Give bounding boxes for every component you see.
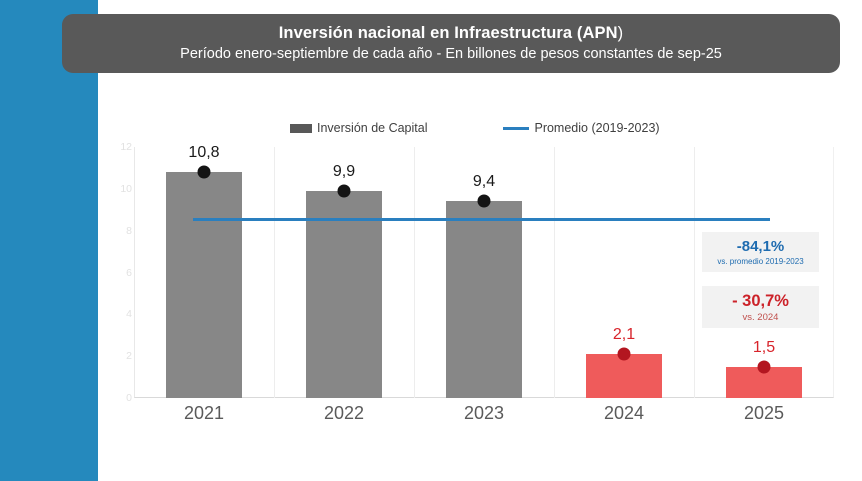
y-axis-tick: 12 (120, 141, 132, 153)
bar-marker-2022 (338, 184, 351, 197)
page-title-text: Inversión nacional en Infraestructura (A… (279, 24, 618, 42)
bar-marker-2025 (758, 360, 771, 373)
y-axis-tick: 10 (120, 183, 132, 195)
chart-legend: Inversión de Capital Promedio (2019-2023… (290, 117, 680, 139)
x-axis-tick-2022: 2022 (324, 403, 364, 424)
bar-slot: 9,9 (274, 147, 414, 398)
y-axis-tick: 0 (126, 392, 132, 404)
bar-marker-2023 (478, 195, 491, 208)
x-axis-tick-2023: 2023 (464, 403, 504, 424)
legend-label-average: Promedio (2019-2023) (534, 121, 659, 135)
callout-vs-average-sub: vs. promedio 2019-2023 (717, 257, 803, 266)
x-axis-tick-2024: 2024 (604, 403, 644, 424)
chart-page: Inversión nacional en Infraestructura (A… (0, 0, 862, 481)
bar-slot: 10,8 (134, 147, 274, 398)
legend-bar-swatch-icon (290, 124, 312, 133)
bar-2023[interactable] (446, 201, 522, 398)
plot-area: 10,89,99,42,11,5 (134, 147, 834, 398)
legend-label-series: Inversión de Capital (317, 121, 427, 135)
y-axis-tick: 8 (126, 225, 132, 237)
callout-vs-previous: - 30,7% vs. 2024 (702, 286, 819, 328)
page-title-tail: ) (618, 24, 624, 42)
bar-2022[interactable] (306, 191, 382, 398)
legend-item-promedio[interactable]: Promedio (2019-2023) (503, 121, 659, 135)
average-line (193, 218, 770, 221)
y-axis-tick: 6 (126, 267, 132, 279)
callout-vs-previous-value: - 30,7% (732, 292, 789, 311)
bar-value-label-2022: 9,9 (333, 163, 355, 181)
page-subtitle: Período enero-septiembre de cada año - E… (180, 45, 722, 64)
legend-item-inversion-de-capital[interactable]: Inversión de Capital (290, 121, 427, 135)
y-axis-labels: 024681012 (106, 140, 132, 405)
callout-vs-previous-sub: vs. 2024 (743, 312, 779, 323)
legend-line-swatch-icon (503, 127, 529, 130)
bar-slot: 2,1 (554, 147, 694, 398)
x-axis-tick-2021: 2021 (184, 403, 224, 424)
bar-slot: 9,4 (414, 147, 554, 398)
y-axis-tick: 4 (126, 308, 132, 320)
title-banner: Inversión nacional en Infraestructura (A… (62, 14, 840, 73)
bar-2024[interactable] (586, 354, 662, 398)
bar-marker-2024 (618, 348, 631, 361)
bar-group: 10,89,99,42,11,5 (134, 147, 834, 398)
x-axis-tick-2025: 2025 (744, 403, 784, 424)
bar-slot: 1,5 (694, 147, 834, 398)
x-axis-labels: 20212022202320242025 (134, 403, 834, 433)
bar-marker-2021 (198, 166, 211, 179)
bar-value-label-2025: 1,5 (753, 339, 775, 357)
bar-value-label-2024: 2,1 (613, 326, 635, 344)
y-axis-tick: 2 (126, 350, 132, 362)
bar-value-label-2021: 10,8 (188, 144, 219, 162)
callout-vs-average: -84,1% vs. promedio 2019-2023 (702, 232, 819, 272)
callout-vs-average-value: -84,1% (737, 238, 785, 255)
bar-2021[interactable] (166, 172, 242, 398)
bar-value-label-2023: 9,4 (473, 173, 495, 191)
page-title: Inversión nacional en Infraestructura (A… (279, 23, 623, 44)
